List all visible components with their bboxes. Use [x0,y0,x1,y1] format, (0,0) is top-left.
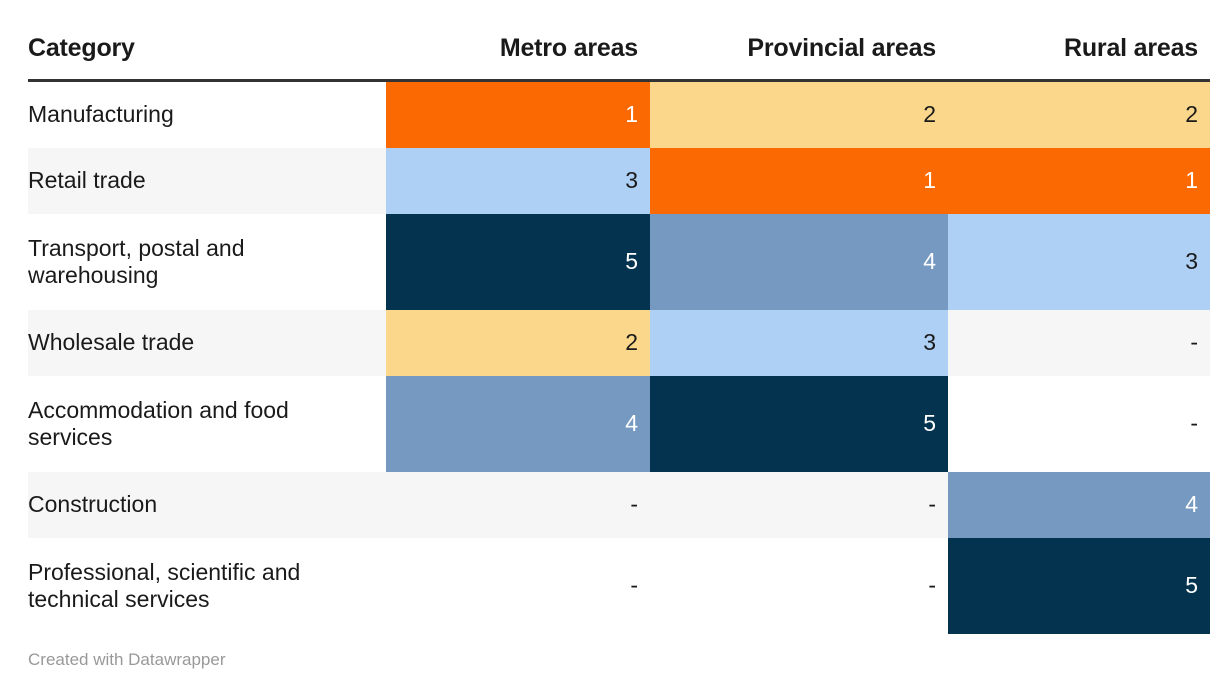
cell-metro-areas: 2 [386,310,650,376]
cell-category: Professional, scientific and technical s… [28,538,386,634]
cell-category: Transport, postal and warehousing [28,214,386,310]
cell-category: Manufacturing [28,81,386,149]
cell-provincial-areas: 3 [650,310,948,376]
cell-rural-areas: 1 [948,148,1210,214]
column-header-rural-areas[interactable]: Rural areas [948,34,1210,81]
cell-metro-areas: 1 [386,81,650,149]
table-row: Retail trade311 [28,148,1210,214]
cell-rural-areas: 5 [948,538,1210,634]
ranking-table: Category Metro areas Provincial areas Ru… [28,34,1210,634]
cell-category: Retail trade [28,148,386,214]
table-header: Category Metro areas Provincial areas Ru… [28,34,1210,81]
table-chart-container: Category Metro areas Provincial areas Ru… [0,34,1220,684]
column-header-metro-areas[interactable]: Metro areas [386,34,650,81]
cell-rural-areas: 4 [948,472,1210,538]
cell-provincial-areas: 4 [650,214,948,310]
table-body: Manufacturing122Retail trade311Transport… [28,81,1210,635]
cell-provincial-areas: - [650,472,948,538]
column-header-provincial-areas[interactable]: Provincial areas [650,34,948,81]
cell-metro-areas: 3 [386,148,650,214]
table-header-row: Category Metro areas Provincial areas Ru… [28,34,1210,81]
cell-category: Wholesale trade [28,310,386,376]
cell-metro-areas: - [386,472,650,538]
cell-category: Construction [28,472,386,538]
column-header-category[interactable]: Category [28,34,386,81]
cell-metro-areas: 5 [386,214,650,310]
cell-rural-areas: 2 [948,81,1210,149]
table-row: Wholesale trade23- [28,310,1210,376]
cell-category: Accommodation and food services [28,376,386,472]
cell-provincial-areas: 2 [650,81,948,149]
cell-metro-areas: 4 [386,376,650,472]
cell-metro-areas: - [386,538,650,634]
table-row: Professional, scientific and technical s… [28,538,1210,634]
table-row: Manufacturing122 [28,81,1210,149]
cell-provincial-areas: - [650,538,948,634]
cell-rural-areas: - [948,310,1210,376]
table-row: Transport, postal and warehousing543 [28,214,1210,310]
cell-provincial-areas: 5 [650,376,948,472]
table-row: Construction--4 [28,472,1210,538]
cell-rural-areas: 3 [948,214,1210,310]
cell-provincial-areas: 1 [650,148,948,214]
cell-rural-areas: - [948,376,1210,472]
table-row: Accommodation and food services45- [28,376,1210,472]
datawrapper-credit[interactable]: Created with Datawrapper [28,650,225,670]
